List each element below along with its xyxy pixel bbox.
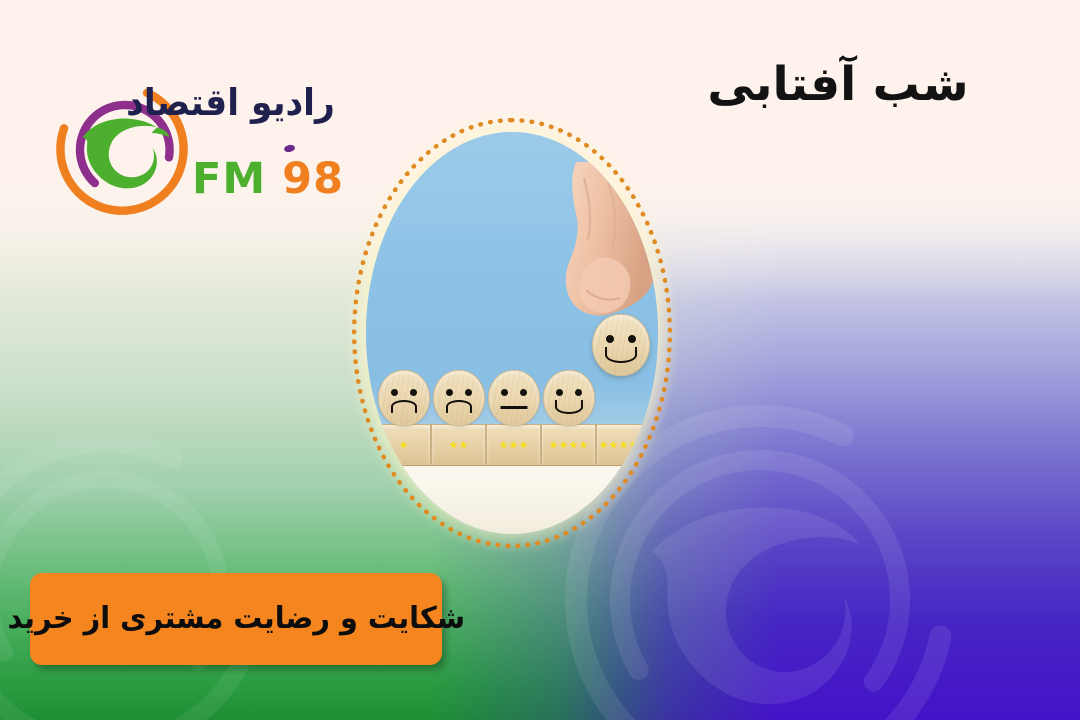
station-frequency: FM 98	[192, 154, 332, 204]
station-wordmark: رادیو اقتصاد	[195, 84, 335, 123]
photo-frame	[352, 118, 672, 548]
fm-number: 98	[282, 154, 344, 204]
station-logo[interactable]: رادیو اقتصاد FM 98	[48, 62, 328, 232]
poster-canvas: رادیو اقتصاد FM 98 شب آفتابی	[0, 0, 1080, 720]
subject-label: شکایت و رضایت مشتری از خرید	[7, 601, 465, 637]
fm-label: FM	[192, 154, 266, 204]
subject-banner[interactable]: شکایت و رضایت مشتری از خرید	[30, 573, 442, 665]
photo-dotted-ring	[352, 118, 672, 548]
program-title: شب آفتابی	[658, 56, 1018, 115]
